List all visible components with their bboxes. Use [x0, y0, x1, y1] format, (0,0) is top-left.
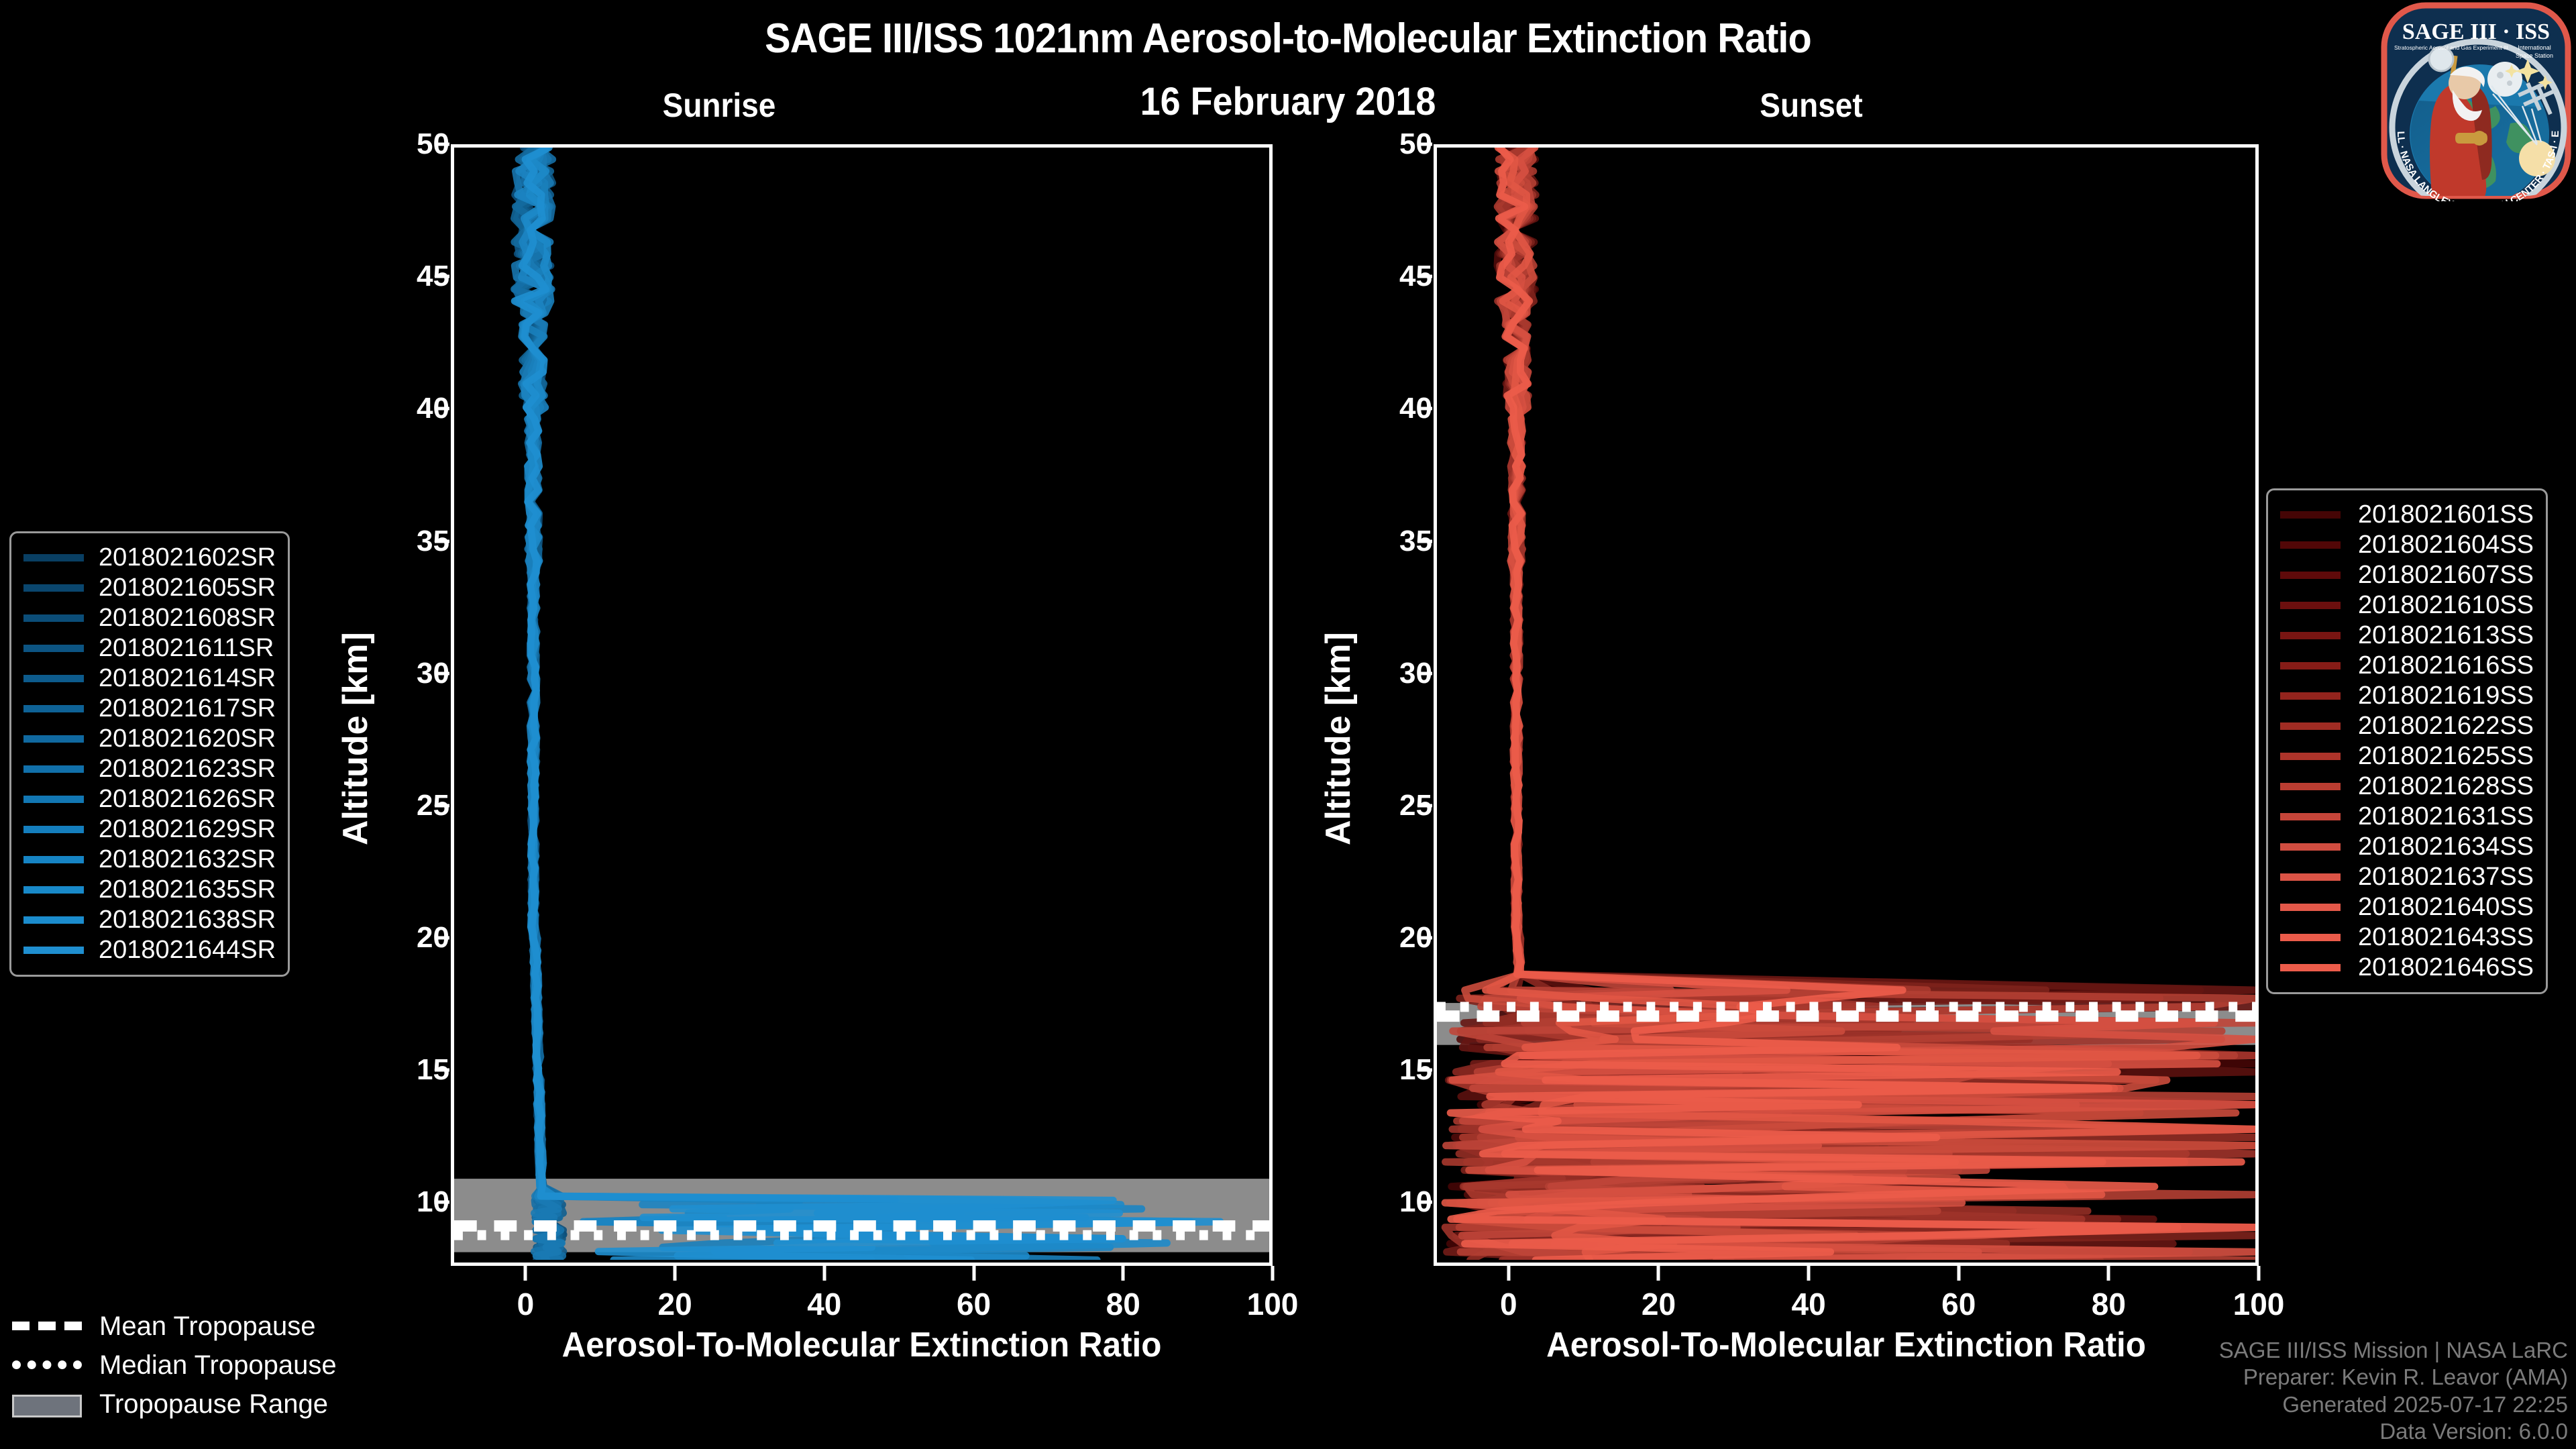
y-tick-mark	[1417, 275, 1432, 278]
legend-sunset-item[interactable]: 2018021637SS	[2280, 862, 2534, 892]
legend-sunset-swatch	[2280, 813, 2341, 820]
sunset-profile-canvas	[1437, 148, 2255, 1260]
legend-sunset-label: 2018021604SS	[2358, 531, 2534, 559]
sunrise-profile-canvas	[454, 148, 1269, 1260]
legend-sunrise-label: 2018021638SR	[99, 906, 276, 934]
legend-sunrise-item[interactable]: 2018021623SR	[23, 754, 276, 784]
legend-sunset-label: 2018021625SS	[2358, 742, 2534, 771]
y-axis-title-sunset: Altitude [km]	[1318, 632, 1358, 845]
legend-sunset-item[interactable]: 2018021616SS	[2280, 651, 2534, 681]
legend-sunrise-swatch	[23, 856, 84, 863]
tropopause-key-label: Mean Tropopause	[99, 1311, 315, 1342]
tropopause-key-label: Tropopause Range	[99, 1389, 328, 1419]
x-tick-mark	[1957, 1266, 1960, 1281]
mission-patch-svg: SAGE III · ISS Stratospheric Aerosol and…	[2379, 0, 2573, 201]
legend-sunset-label: 2018021640SS	[2358, 893, 2534, 922]
x-axis-sunrise: 020406080100	[451, 1266, 1273, 1326]
legend-sunset-item[interactable]: 2018021628SS	[2280, 771, 2534, 802]
legend-sunrise-item[interactable]: 2018021620SR	[23, 724, 276, 754]
plot-panel-sunrise[interactable]	[451, 144, 1273, 1266]
legend-sunrise-label: 2018021620SR	[99, 724, 276, 753]
x-tick-label: 20	[1605, 1286, 1712, 1322]
y-tick-mark	[1417, 1069, 1432, 1072]
legend-sunrise-label: 2018021632SR	[99, 845, 276, 874]
legend-sunrise-swatch	[23, 916, 84, 924]
logo-title: SAGE III · ISS	[2402, 19, 2550, 44]
legend-sunset-swatch	[2280, 541, 2341, 549]
y-tick-mark	[1417, 1201, 1432, 1204]
legend-sunset-swatch	[2280, 753, 2341, 760]
legend-sunrise-label: 2018021626SR	[99, 785, 276, 814]
legend-sunrise-label: 2018021602SR	[99, 543, 276, 572]
legend-sunset-label: 2018021646SS	[2358, 953, 2534, 982]
credits-line: Generated 2025-07-17 22:25	[2219, 1391, 2568, 1418]
legend-sunrise-swatch	[23, 947, 84, 954]
legend-sunrise-item[interactable]: 2018021638SR	[23, 905, 276, 935]
tropopause-key-label: Median Tropopause	[99, 1350, 337, 1381]
tropopause-key-swatch	[12, 1317, 82, 1336]
legend-sunset-swatch	[2280, 722, 2341, 730]
legend-sunset-label: 2018021613SS	[2358, 621, 2534, 650]
y-tick-mark	[435, 672, 449, 675]
legend-sunrise-swatch	[23, 584, 84, 592]
profile-line	[523, 148, 1191, 1260]
legend-sunrise-label: 2018021605SR	[99, 574, 276, 602]
y-tick-mark	[1417, 143, 1432, 146]
legend-sunset-swatch	[2280, 602, 2341, 609]
tropopause-range-swatch-icon	[12, 1395, 82, 1417]
legend-sunset-label: 2018021601SS	[2358, 500, 2534, 529]
panel-title-sunrise: Sunrise	[596, 86, 843, 125]
y-tick-mark	[1417, 539, 1432, 543]
x-tick-label: 80	[1069, 1286, 1177, 1322]
x-tick-label: 60	[1905, 1286, 2012, 1322]
legend-sunset-item[interactable]: 2018021604SS	[2280, 530, 2534, 560]
legend-sunset-item[interactable]: 2018021631SS	[2280, 802, 2534, 832]
x-tick-label: 20	[621, 1286, 729, 1322]
tropopause-key-swatch	[12, 1356, 82, 1375]
legend-sunrise-swatch	[23, 735, 84, 743]
credits-block: SAGE III/ISS Mission | NASA LaRCPreparer…	[2219, 1337, 2568, 1445]
x-tick-label: 60	[920, 1286, 1028, 1322]
legend-sunset-label: 2018021616SS	[2358, 651, 2534, 680]
legend-sunrise-label: 2018021614SR	[99, 664, 276, 693]
x-tick-mark	[1122, 1266, 1125, 1281]
dashed-line-icon	[12, 1322, 82, 1330]
tropopause-key-row: Median Tropopause	[12, 1346, 428, 1385]
x-tick-mark	[1271, 1266, 1275, 1281]
x-tick-mark	[822, 1266, 826, 1281]
x-tick-mark	[674, 1266, 677, 1281]
legend-sunset-item[interactable]: 2018021643SS	[2280, 922, 2534, 953]
legend-sunrise-item[interactable]: 2018021635SR	[23, 875, 276, 905]
y-tick-mark	[435, 1069, 449, 1072]
legend-sunset-swatch	[2280, 632, 2341, 639]
legend-sunrise-swatch	[23, 826, 84, 833]
legend-sunrise-swatch	[23, 614, 84, 622]
legend-sunset-label: 2018021607SS	[2358, 561, 2534, 590]
legend-sunrise-swatch	[23, 554, 84, 561]
legend-sunrise-label: 2018021611SR	[99, 634, 274, 663]
legend-sunset-swatch	[2280, 692, 2341, 700]
y-tick-mark	[1417, 407, 1432, 411]
logo-subtitle-left: Stratospheric Aerosol and Gas Experiment…	[2394, 44, 2508, 51]
x-axis-title-sunset: Aerosol-To-Molecular Extinction Ratio	[1454, 1325, 2239, 1365]
legend-sunset-label: 2018021628SS	[2358, 772, 2534, 801]
legend-sunrise-item[interactable]: 2018021626SR	[23, 784, 276, 814]
legend-sunrise-item[interactable]: 2018021608SR	[23, 603, 276, 633]
legend-sunset-label: 2018021634SS	[2358, 833, 2534, 861]
legend-sunrise-item[interactable]: 2018021614SR	[23, 663, 276, 694]
sage-iii-iss-mission-patch-logo: SAGE III · ISS Stratospheric Aerosol and…	[2379, 0, 2573, 201]
legend-sunset-label: 2018021610SS	[2358, 591, 2534, 620]
x-tick-label: 0	[1455, 1286, 1562, 1322]
profile-line	[522, 148, 1097, 1260]
legend-sunrise-swatch	[23, 675, 84, 682]
x-tick-mark	[524, 1266, 527, 1281]
x-tick-label: 40	[1755, 1286, 1862, 1322]
legend-sunrise-label: 2018021623SR	[99, 755, 276, 784]
x-tick-mark	[2107, 1266, 2110, 1281]
plot-panel-sunset[interactable]	[1434, 144, 2259, 1266]
date-subtitle: 16 February 2018	[90, 79, 2485, 124]
legend-sunrise-item[interactable]: 2018021605SR	[23, 573, 276, 603]
y-tick-mark	[435, 936, 449, 940]
legend-sunset-item[interactable]: 2018021625SS	[2280, 741, 2534, 771]
legend-sunrise-item[interactable]: 2018021602SR	[23, 543, 276, 573]
x-tick-label: 40	[771, 1286, 878, 1322]
x-tick-mark	[1507, 1266, 1510, 1281]
legend-sunset-label: 2018021622SS	[2358, 712, 2534, 741]
tropopause-key-row: Mean Tropopause	[12, 1307, 428, 1346]
legend-sunrise-item[interactable]: 2018021632SR	[23, 845, 276, 875]
legend-sunset-item[interactable]: 2018021634SS	[2280, 832, 2534, 862]
legend-sunset-swatch	[2280, 662, 2341, 669]
legend-sunrise-swatch	[23, 886, 84, 894]
legend-sunrise-label: 2018021608SR	[99, 604, 276, 633]
y-tick-mark	[1417, 804, 1432, 807]
legend-sunset-swatch	[2280, 511, 2341, 519]
legend-sunset-swatch	[2280, 904, 2341, 911]
legend-sunrise-label: 2018021644SR	[99, 936, 276, 965]
legend-sunrise-label: 2018021635SR	[99, 875, 276, 904]
legend-sunrise-label: 2018021617SR	[99, 694, 276, 723]
x-axis-sunset: 020406080100	[1434, 1266, 2259, 1326]
page-title: SAGE III/ISS 1021nm Aerosol-to-Molecular…	[90, 15, 2485, 62]
legend-sunset-label: 2018021643SS	[2358, 923, 2534, 952]
legend-sunrise-item[interactable]: 2018021617SR	[23, 694, 276, 724]
x-tick-mark	[2257, 1266, 2261, 1281]
legend-sunset-item[interactable]: 2018021607SS	[2280, 560, 2534, 590]
legend-sunset-item[interactable]: 2018021613SS	[2280, 621, 2534, 651]
profile-line	[518, 148, 1142, 1260]
y-tick-mark	[435, 143, 449, 146]
legend-sunset-swatch	[2280, 934, 2341, 941]
logo-subtitle-right-2: Space Station	[2516, 52, 2553, 59]
legend-sunset-item[interactable]: 2018021619SS	[2280, 681, 2534, 711]
x-tick-label: 0	[472, 1286, 579, 1322]
x-tick-label: 100	[1219, 1286, 1326, 1322]
x-tick-label: 100	[2205, 1286, 2312, 1322]
legend-sunset-item[interactable]: 2018021601SS	[2280, 500, 2534, 530]
legend-sunset-swatch	[2280, 873, 2341, 881]
legend-sunrise-swatch	[23, 705, 84, 712]
x-axis-title-sunrise: Aerosol-To-Molecular Extinction Ratio	[472, 1325, 1252, 1365]
legend-sunset-item[interactable]: 2018021622SS	[2280, 711, 2534, 741]
y-tick-mark	[435, 539, 449, 543]
legend-sunset-swatch	[2280, 783, 2341, 790]
y-axis-title-sunrise: Altitude [km]	[335, 632, 376, 845]
y-tick-mark	[435, 804, 449, 807]
legend-sunset-item[interactable]: 2018021610SS	[2280, 590, 2534, 621]
y-tick-mark	[435, 407, 449, 411]
legend-sunrise-label: 2018021629SR	[99, 815, 276, 844]
profile-line	[515, 148, 1220, 1260]
y-tick-mark	[1417, 936, 1432, 940]
x-tick-mark	[1807, 1266, 1811, 1281]
x-tick-label: 80	[2055, 1286, 2162, 1322]
panel-title-sunset: Sunset	[1688, 86, 1935, 125]
legend-sunrise-item[interactable]: 2018021611SR	[23, 633, 276, 663]
legend-sunset[interactable]: 2018021601SS2018021604SS2018021607SS2018…	[2266, 488, 2548, 994]
tropopause-key: Mean TropopauseMedian TropopauseTropopau…	[12, 1307, 428, 1424]
legend-sunset-swatch	[2280, 572, 2341, 579]
legend-sunset-label: 2018021619SS	[2358, 682, 2534, 710]
legend-sunset-swatch	[2280, 964, 2341, 971]
legend-sunset-item[interactable]: 2018021640SS	[2280, 892, 2534, 922]
legend-sunset-label: 2018021637SS	[2358, 863, 2534, 892]
legend-sunrise-item[interactable]: 2018021644SR	[23, 935, 276, 965]
legend-sunrise-swatch	[23, 765, 84, 773]
x-tick-mark	[1657, 1266, 1660, 1281]
legend-sunset-item[interactable]: 2018021646SS	[2280, 953, 2534, 983]
legend-sunrise-swatch	[23, 645, 84, 652]
legend-sunset-label: 2018021631SS	[2358, 802, 2534, 831]
y-tick-mark	[435, 275, 449, 278]
tropopause-key-swatch	[12, 1395, 82, 1413]
dotted-line-icon	[12, 1360, 82, 1369]
legend-sunset-swatch	[2280, 843, 2341, 851]
logo-subtitle-right-1: International	[2518, 44, 2551, 51]
legend-sunrise-item[interactable]: 2018021629SR	[23, 814, 276, 845]
legend-sunrise[interactable]: 2018021602SR2018021605SR2018021608SR2018…	[9, 531, 290, 977]
credits-line: Preparer: Kevin R. Leavor (AMA)	[2219, 1364, 2568, 1391]
y-tick-mark	[435, 1201, 449, 1204]
credits-line: Data Version: 6.0.0	[2219, 1418, 2568, 1445]
credits-line: SAGE III/ISS Mission | NASA LaRC	[2219, 1337, 2568, 1364]
x-tick-mark	[972, 1266, 975, 1281]
y-tick-mark	[1417, 672, 1432, 675]
tropopause-key-row: Tropopause Range	[12, 1385, 428, 1424]
legend-sunrise-swatch	[23, 796, 84, 803]
